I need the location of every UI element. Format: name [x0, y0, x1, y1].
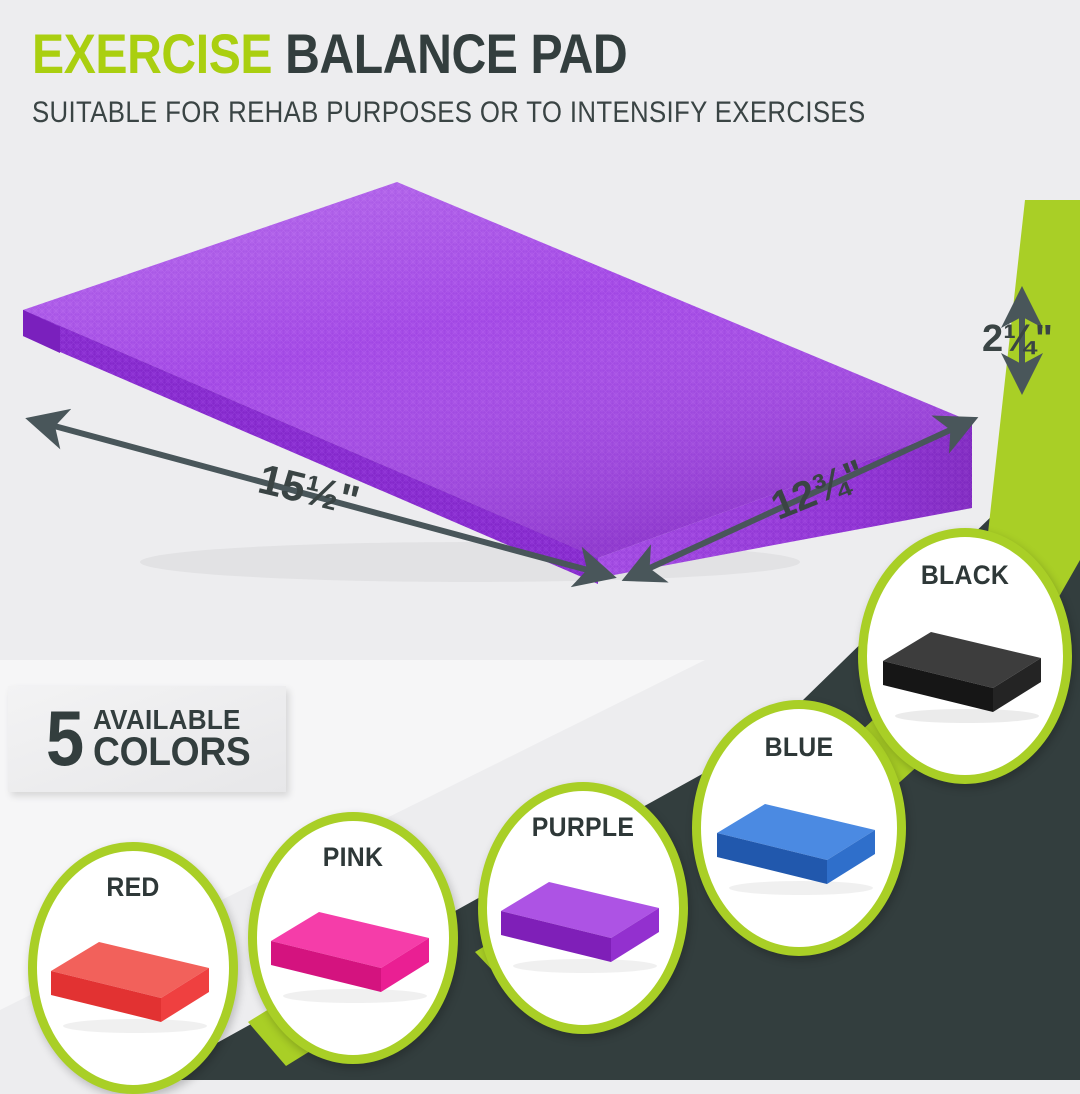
swatch-purple[interactable]: PURPLE	[478, 782, 688, 1034]
available-colors-badge: 5 AVAILABLE COLORS	[8, 686, 286, 792]
pad-icon-red	[43, 930, 223, 1042]
swatch-blue-image	[692, 792, 906, 904]
colors-count: 5	[46, 707, 84, 771]
page-title: EXERCISE BALANCE PAD	[32, 26, 909, 82]
title-rest-spacer	[272, 22, 285, 85]
header: EXERCISE BALANCE PAD SUITABLE FOR REHAB …	[32, 26, 1052, 130]
colors-badge-line1: AVAILABLE	[93, 707, 250, 734]
swatch-red[interactable]: RED	[28, 842, 238, 1094]
pad-icon-pink	[263, 900, 443, 1012]
title-highlight: EXERCISE	[32, 22, 272, 85]
page-subtitle: SUITABLE FOR REHAB PURPOSES OR TO INTENS…	[32, 96, 909, 130]
swatch-pink[interactable]: PINK	[248, 812, 458, 1064]
pad-icon-blue	[709, 792, 889, 904]
swatch-black-label: BLACK	[867, 560, 1064, 591]
infographic-canvas: EXERCISE BALANCE PAD SUITABLE FOR REHAB …	[0, 0, 1080, 1080]
height-dimension-label: 2¼"	[982, 318, 1053, 361]
pad-icon-purple	[493, 870, 673, 982]
swatch-purple-image	[478, 870, 688, 982]
swatch-black-image	[858, 620, 1072, 732]
colors-badge-line2: COLORS	[93, 733, 250, 771]
pad-icon-black	[875, 620, 1055, 732]
colors-badge-text: AVAILABLE COLORS	[93, 707, 262, 772]
swatch-pink-image	[248, 900, 458, 1012]
title-rest: BALANCE PAD	[285, 22, 627, 85]
swatch-black[interactable]: BLACK	[858, 528, 1072, 784]
swatch-pink-label: PINK	[256, 842, 449, 873]
swatch-red-label: RED	[36, 872, 229, 903]
swatch-red-image	[28, 930, 238, 1042]
swatch-purple-label: PURPLE	[486, 812, 679, 843]
